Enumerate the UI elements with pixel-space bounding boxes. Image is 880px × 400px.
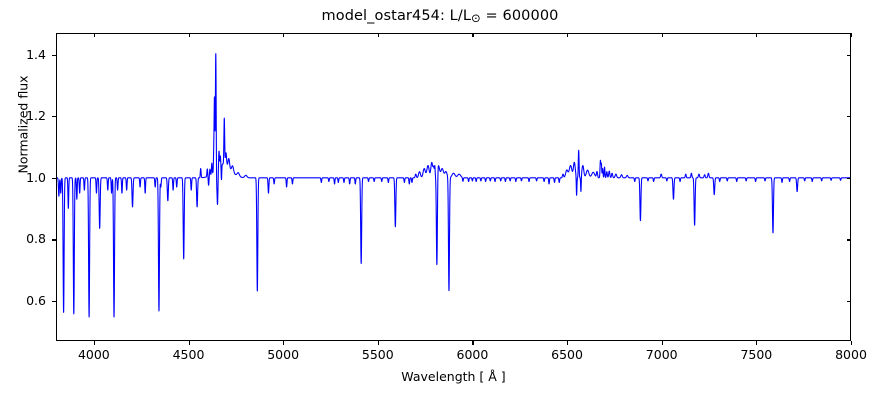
x-tick-mark xyxy=(472,341,473,345)
page-title: model_ostar454: L/L⊙ = 600000 xyxy=(0,8,880,25)
spectrum-plot-area xyxy=(57,34,850,340)
x-tick-mark-top xyxy=(662,33,663,37)
x-tick-mark-top xyxy=(283,33,284,37)
y-axis-label: Normalized flux xyxy=(16,40,31,210)
x-tick-mark-top xyxy=(378,33,379,37)
title-text-before: model_ostar454: L/L xyxy=(322,8,471,24)
y-tick-mark xyxy=(52,178,56,179)
x-tick-mark-top xyxy=(189,33,190,37)
x-tick-label: 7000 xyxy=(632,347,692,362)
y-tick-mark-right xyxy=(847,178,851,179)
spectrum-figure: model_ostar454: L/L⊙ = 600000 4000450050… xyxy=(0,0,880,400)
x-tick-label: 5000 xyxy=(253,347,313,362)
y-tick-mark xyxy=(52,239,56,240)
y-tick-mark xyxy=(52,301,56,302)
x-tick-label: 6000 xyxy=(442,347,502,362)
x-tick-label: 7500 xyxy=(726,347,786,362)
x-tick-mark xyxy=(662,341,663,345)
x-tick-label: 4000 xyxy=(64,347,124,362)
y-tick-mark-right xyxy=(847,301,851,302)
spectrum-line xyxy=(57,54,850,317)
x-tick-mark xyxy=(189,341,190,345)
y-tick-mark-right xyxy=(847,239,851,240)
x-tick-label: 5500 xyxy=(348,347,408,362)
plot-axes xyxy=(56,33,851,341)
x-tick-mark xyxy=(283,341,284,345)
sun-symbol-icon: ⊙ xyxy=(471,11,481,25)
title-text-after: = 600000 xyxy=(481,8,559,24)
y-tick-mark-right xyxy=(847,55,851,56)
x-tick-mark xyxy=(94,341,95,345)
y-tick-mark xyxy=(52,116,56,117)
x-tick-mark xyxy=(567,341,568,345)
x-tick-mark-top xyxy=(851,33,852,37)
x-tick-label: 6500 xyxy=(537,347,597,362)
x-tick-mark xyxy=(851,341,852,345)
y-tick-label: 0.6 xyxy=(0,293,46,308)
x-tick-mark xyxy=(378,341,379,345)
x-tick-mark-top xyxy=(756,33,757,37)
x-tick-label: 4500 xyxy=(159,347,219,362)
y-tick-label: 0.8 xyxy=(0,231,46,246)
y-tick-mark xyxy=(52,55,56,56)
x-tick-mark-top xyxy=(472,33,473,37)
y-tick-mark-right xyxy=(847,116,851,117)
x-axis-label: Wavelength [ Å ] xyxy=(56,369,851,384)
x-tick-mark xyxy=(756,341,757,345)
x-tick-mark-top xyxy=(567,33,568,37)
x-tick-label: 8000 xyxy=(821,347,880,362)
x-tick-mark-top xyxy=(94,33,95,37)
